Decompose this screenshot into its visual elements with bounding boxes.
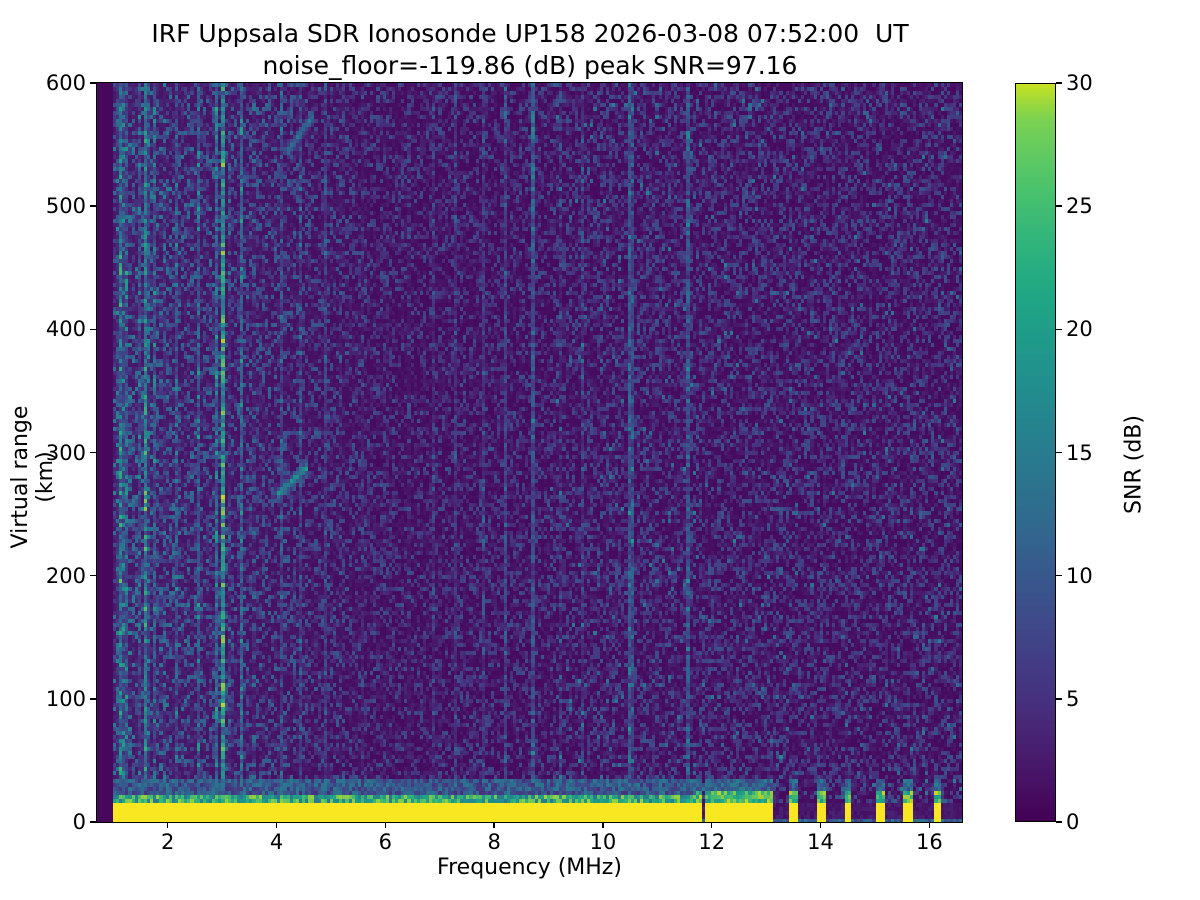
- x-axis-label: Frequency (MHz): [97, 855, 962, 880]
- x-tick-label: 10: [590, 830, 617, 854]
- figure-title: IRF Uppsala SDR Ionosonde UP158 2026-03-…: [0, 18, 1060, 82]
- y-tick-mark: [90, 452, 96, 453]
- y-tick-mark: [90, 82, 96, 83]
- colorbar-tick-mark: [1056, 205, 1062, 206]
- y-tick-mark: [90, 205, 96, 206]
- y-tick-label: 600: [46, 71, 86, 95]
- x-tick-label: 4: [270, 830, 283, 854]
- x-tick-mark: [385, 822, 386, 828]
- y-tick-label: 0: [73, 810, 86, 834]
- x-tick-label: 8: [487, 830, 500, 854]
- y-axis-label: Virtual range (km): [8, 377, 58, 577]
- colorbar-tick-label: 25: [1066, 194, 1093, 218]
- x-tick-label: 16: [916, 830, 943, 854]
- x-tick-mark: [493, 822, 494, 828]
- colorbar-tick-label: 0: [1066, 810, 1079, 834]
- colorbar-tick-label: 5: [1066, 687, 1079, 711]
- colorbar-tick-mark: [1056, 329, 1062, 330]
- x-tick-label: 6: [379, 830, 392, 854]
- colorbar-tick-mark: [1056, 82, 1062, 83]
- y-tick-label: 500: [46, 194, 86, 218]
- ionogram-heatmap-canvas: [97, 83, 962, 822]
- colorbar-tick-mark: [1056, 821, 1062, 822]
- title-line-1: IRF Uppsala SDR Ionosonde UP158 2026-03-…: [0, 18, 1060, 50]
- x-tick-mark: [711, 822, 712, 828]
- colorbar-tick-mark: [1056, 452, 1062, 453]
- x-tick-label: 2: [161, 830, 174, 854]
- ionogram-plot-area: [97, 83, 962, 822]
- y-tick-mark: [90, 698, 96, 699]
- colorbar-tick-label: 10: [1066, 564, 1093, 588]
- x-tick-mark: [929, 822, 930, 828]
- colorbar-tick-mark: [1056, 575, 1062, 576]
- y-tick-mark: [90, 575, 96, 576]
- x-tick-mark: [276, 822, 277, 828]
- x-tick-mark: [820, 822, 821, 828]
- y-tick-label: 100: [46, 687, 86, 711]
- y-tick-label: 400: [46, 317, 86, 341]
- x-tick-mark: [167, 822, 168, 828]
- x-tick-label: 14: [807, 830, 834, 854]
- title-line-2: noise_floor=-119.86 (dB) peak SNR=97.16: [0, 50, 1060, 82]
- colorbar-gradient: [1015, 83, 1056, 822]
- colorbar-tick-mark: [1056, 698, 1062, 699]
- x-tick-label: 12: [698, 830, 725, 854]
- x-tick-mark: [602, 822, 603, 828]
- colorbar-label: SNR (dB): [1122, 355, 1147, 575]
- y-tick-mark: [90, 821, 96, 822]
- colorbar-tick-label: 15: [1066, 441, 1093, 465]
- y-tick-mark: [90, 329, 96, 330]
- colorbar-tick-label: 30: [1066, 71, 1093, 95]
- colorbar-tick-label: 20: [1066, 317, 1093, 341]
- ionogram-figure: IRF Uppsala SDR Ionosonde UP158 2026-03-…: [0, 0, 1200, 900]
